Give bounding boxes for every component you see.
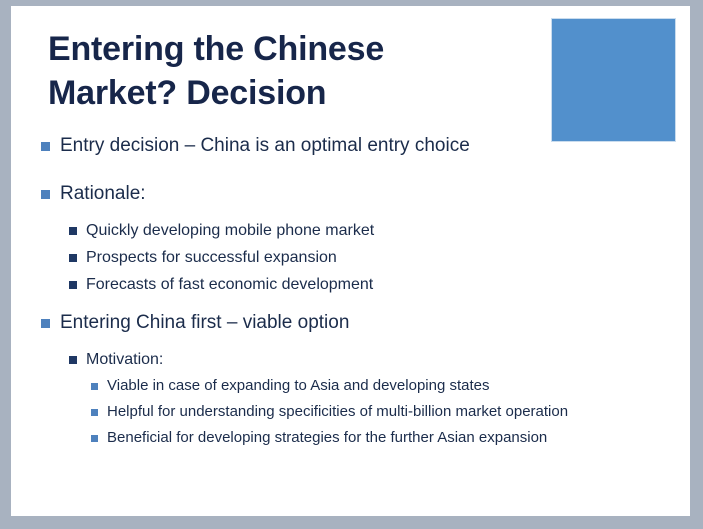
bullet-level3: Beneficial for developing strategies for…: [91, 428, 671, 454]
bullet-text: Viable in case of expanding to Asia and …: [107, 376, 671, 396]
bullet-square-icon: [69, 356, 77, 364]
bullet-level2: Forecasts of fast economic development: [69, 274, 671, 301]
slide-frame: Entering the Chinese Market? Decision En…: [0, 0, 703, 529]
bullet-square-icon: [91, 409, 98, 416]
bullet-level1: Rationale:: [41, 182, 671, 220]
bullet-text: Prospects for successful expansion: [86, 247, 671, 268]
bullet-square-icon: [41, 142, 50, 151]
bullet-text: Entering China first – viable option: [60, 311, 671, 335]
bullet-level1: Entry decision – China is an optimal ent…: [41, 134, 671, 172]
accent-blue-square: [551, 18, 676, 142]
bullet-square-icon: [41, 190, 50, 199]
bullet-text: Rationale:: [60, 182, 671, 206]
bullet-square-icon: [91, 383, 98, 390]
bullet-level2: Prospects for successful expansion: [69, 247, 671, 274]
bullet-level2: Quickly developing mobile phone market: [69, 220, 671, 247]
slide-canvas: Entering the Chinese Market? Decision En…: [11, 6, 690, 516]
bullet-level1: Entering China first – viable option: [41, 311, 671, 349]
bullet-level3: Helpful for understanding specificities …: [91, 402, 671, 428]
bullet-text: Motivation:: [86, 349, 671, 370]
slide-body: Entry decision – China is an optimal ent…: [41, 134, 671, 454]
bullet-square-icon: [91, 435, 98, 442]
bullet-text: Helpful for understanding specificities …: [107, 402, 671, 422]
bullet-text: Forecasts of fast economic development: [86, 274, 671, 295]
bullet-text: Quickly developing mobile phone market: [86, 220, 671, 241]
bullet-level3: Viable in case of expanding to Asia and …: [91, 376, 671, 402]
slide-title: Entering the Chinese Market? Decision: [48, 28, 518, 115]
bullet-text: Beneficial for developing strategies for…: [107, 428, 671, 448]
bullet-level2: Motivation:: [69, 349, 671, 376]
bullet-square-icon: [69, 281, 77, 289]
bullet-square-icon: [69, 254, 77, 262]
bullet-square-icon: [69, 227, 77, 235]
bullet-text: Entry decision – China is an optimal ent…: [60, 134, 671, 158]
bullet-square-icon: [41, 319, 50, 328]
